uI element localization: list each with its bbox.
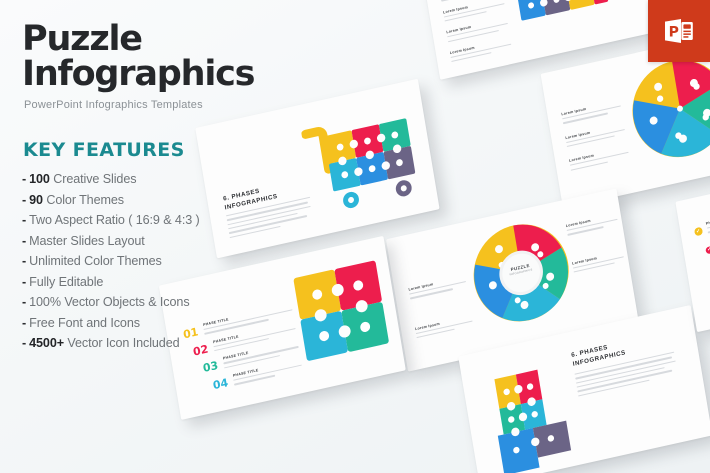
bullet-dash: -	[22, 172, 26, 186]
pie-puzzle-icon	[621, 46, 710, 171]
check-icon: ✓	[705, 246, 710, 255]
page-title: Puzzle Infographics	[22, 22, 312, 92]
label: Lorem Ipsum	[443, 0, 504, 14]
key-features-heading: KEY FEATURES	[23, 139, 312, 161]
feature-highlight: 4500+	[29, 336, 67, 350]
phase-label: PHASE TITLE	[706, 196, 710, 226]
bullet-dash: -	[22, 336, 26, 350]
bullet-dash: -	[22, 254, 26, 268]
page-subtitle: PowerPoint Infographics Templates	[24, 99, 312, 111]
feature-text: Master Slides Layout	[29, 234, 145, 248]
svg-text:P: P	[669, 25, 679, 41]
bullet-dash: -	[22, 295, 26, 309]
feature-text: Fully Editable	[29, 275, 103, 289]
bullet-dash: -	[22, 275, 26, 289]
feature-text: Color Themes	[46, 193, 124, 207]
bullet-dash: -	[22, 193, 26, 207]
check-icon: ✓	[694, 227, 703, 236]
key-feature-item: -Free Font and Icons	[22, 313, 312, 334]
key-features-list: -100 Creative Slides-90 Color Themes-Two…	[22, 169, 312, 354]
key-feature-item: -100% Vector Objects & Icons	[22, 292, 312, 313]
feature-highlight: 90	[29, 193, 46, 207]
key-feature-item: -4500+ Vector Icon Included	[22, 333, 312, 354]
feature-text: Two Aspect Ratio ( 16:9 & 4:3 )	[29, 213, 200, 227]
poster-root: 6. PHASES INFOGRAPHICS	[0, 0, 710, 473]
intro-column: Puzzle Infographics PowerPoint Infograph…	[22, 22, 312, 354]
feature-highlight: 100	[29, 172, 53, 186]
feature-text: Vector Icon Included	[67, 336, 179, 350]
feature-text: Unlimited Color Themes	[29, 254, 162, 268]
powerpoint-glyph: P	[664, 17, 694, 45]
phase-number: 03	[202, 359, 219, 375]
briefcase-puzzle-icon	[493, 0, 616, 48]
key-feature-item: -Master Slides Layout	[22, 231, 312, 252]
shopping-cart-puzzle-icon	[299, 91, 434, 221]
feature-text: 100% Vector Objects & Icons	[29, 295, 189, 309]
bullet-dash: -	[22, 234, 26, 248]
key-feature-item: -Unlimited Color Themes	[22, 251, 312, 272]
feature-text: Creative Slides	[53, 172, 136, 186]
donut-left-labels: Lorem Ipsum Lorem Ipsum	[408, 275, 474, 341]
donut-right-labels: Lorem Ipsum Lorem Ipsum	[566, 213, 625, 276]
person-puzzle-icon	[474, 355, 584, 473]
briefcase-left-labels: Lorem Ipsum Lorem Ipsum Lorem Ipsum Lore…	[439, 0, 512, 65]
phase-number: 04	[212, 376, 229, 392]
feature-text: Free Font and Icons	[29, 316, 140, 330]
powerpoint-icon: P	[648, 0, 710, 62]
pie-left-labels: Lorem Ipsum Lorem Ipsum Lorem Ipsum	[561, 99, 630, 173]
bullet-dash: -	[22, 316, 26, 330]
key-feature-item: -90 Color Themes	[22, 190, 312, 211]
bullet-dash: -	[22, 213, 26, 227]
key-feature-item: -Fully Editable	[22, 272, 312, 293]
key-feature-item: -Two Aspect Ratio ( 16:9 & 4:3 )	[22, 210, 312, 231]
key-feature-item: -100 Creative Slides	[22, 169, 312, 190]
